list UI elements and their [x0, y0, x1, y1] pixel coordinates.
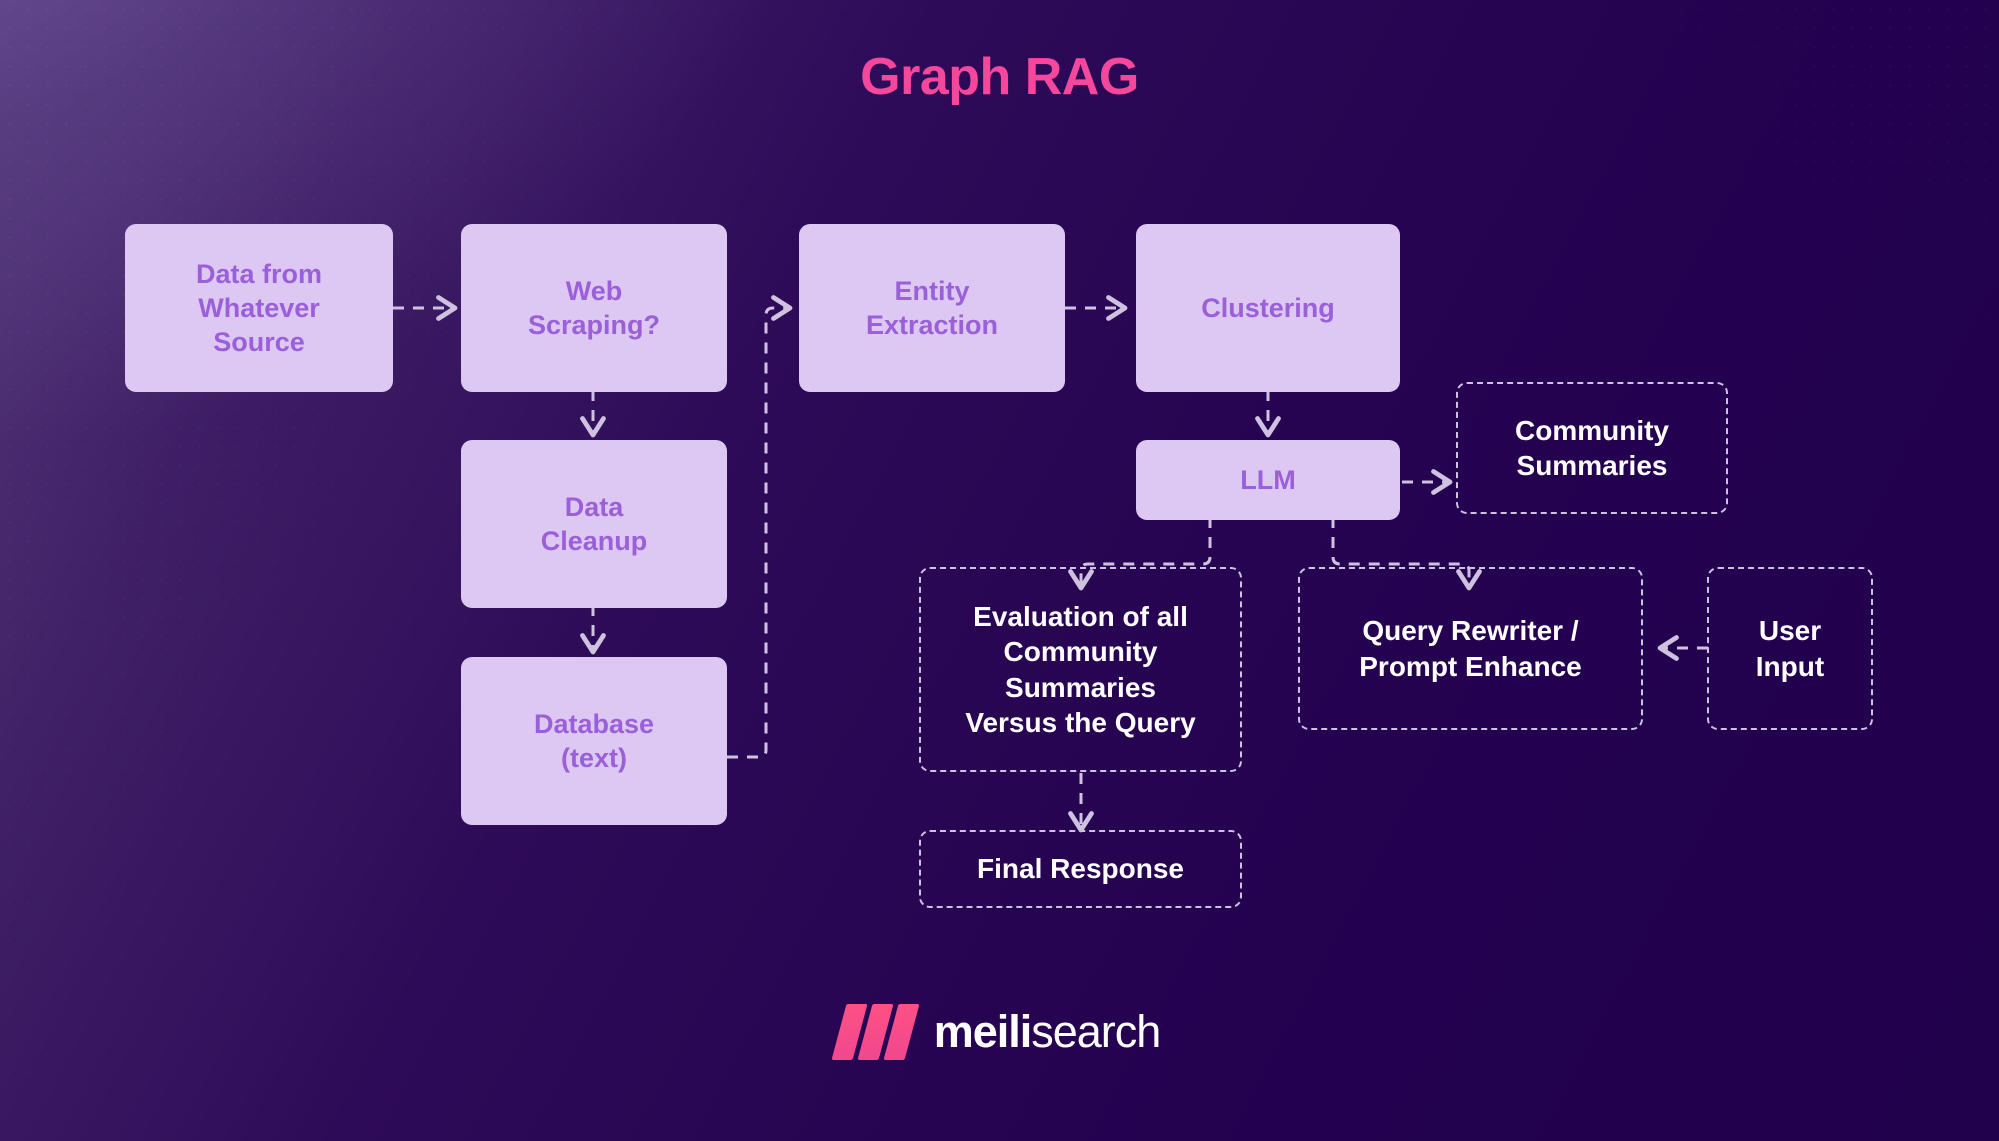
node-clustering-label: Clustering [1191, 291, 1345, 325]
node-data-cleanup[interactable]: DataCleanup [461, 440, 727, 608]
node-query-rewriter-label: Query Rewriter /Prompt Enhance [1349, 613, 1591, 684]
node-entity-extraction-label: EntityExtraction [856, 274, 1008, 342]
node-clustering[interactable]: Clustering [1136, 224, 1400, 392]
node-web-scraping[interactable]: WebScraping? [461, 224, 727, 392]
meilisearch-mark-icon [839, 1004, 912, 1060]
brand-light-text: search [1031, 1006, 1160, 1057]
node-final-response-label: Final Response [967, 851, 1194, 886]
page-title: Graph RAG [0, 47, 1999, 107]
node-user-input[interactable]: UserInput [1707, 567, 1873, 730]
meilisearch-logo: meilisearch [0, 1004, 1999, 1060]
node-entity-extraction[interactable]: EntityExtraction [799, 224, 1065, 392]
brand-bold-text: meili [934, 1006, 1032, 1057]
node-final-response[interactable]: Final Response [919, 830, 1242, 908]
node-database-label: Database(text) [524, 707, 664, 775]
node-evaluation-label: Evaluation of allCommunitySummariesVersu… [955, 599, 1205, 740]
node-database[interactable]: Database(text) [461, 657, 727, 825]
node-community-summaries-label: CommunitySummaries [1505, 413, 1679, 484]
node-data-source-label: Data fromWhateverSource [186, 257, 332, 359]
node-evaluation[interactable]: Evaluation of allCommunitySummariesVersu… [919, 567, 1242, 772]
node-llm[interactable]: LLM [1136, 440, 1400, 520]
node-llm-label: LLM [1230, 463, 1305, 497]
node-query-rewriter[interactable]: Query Rewriter /Prompt Enhance [1298, 567, 1643, 730]
node-web-scraping-label: WebScraping? [518, 274, 670, 342]
meilisearch-wordmark: meilisearch [934, 1006, 1161, 1058]
node-community-summaries[interactable]: CommunitySummaries [1456, 382, 1728, 514]
node-user-input-label: UserInput [1746, 613, 1834, 684]
node-data-cleanup-label: DataCleanup [531, 490, 658, 558]
node-data-source[interactable]: Data fromWhateverSource [125, 224, 393, 392]
